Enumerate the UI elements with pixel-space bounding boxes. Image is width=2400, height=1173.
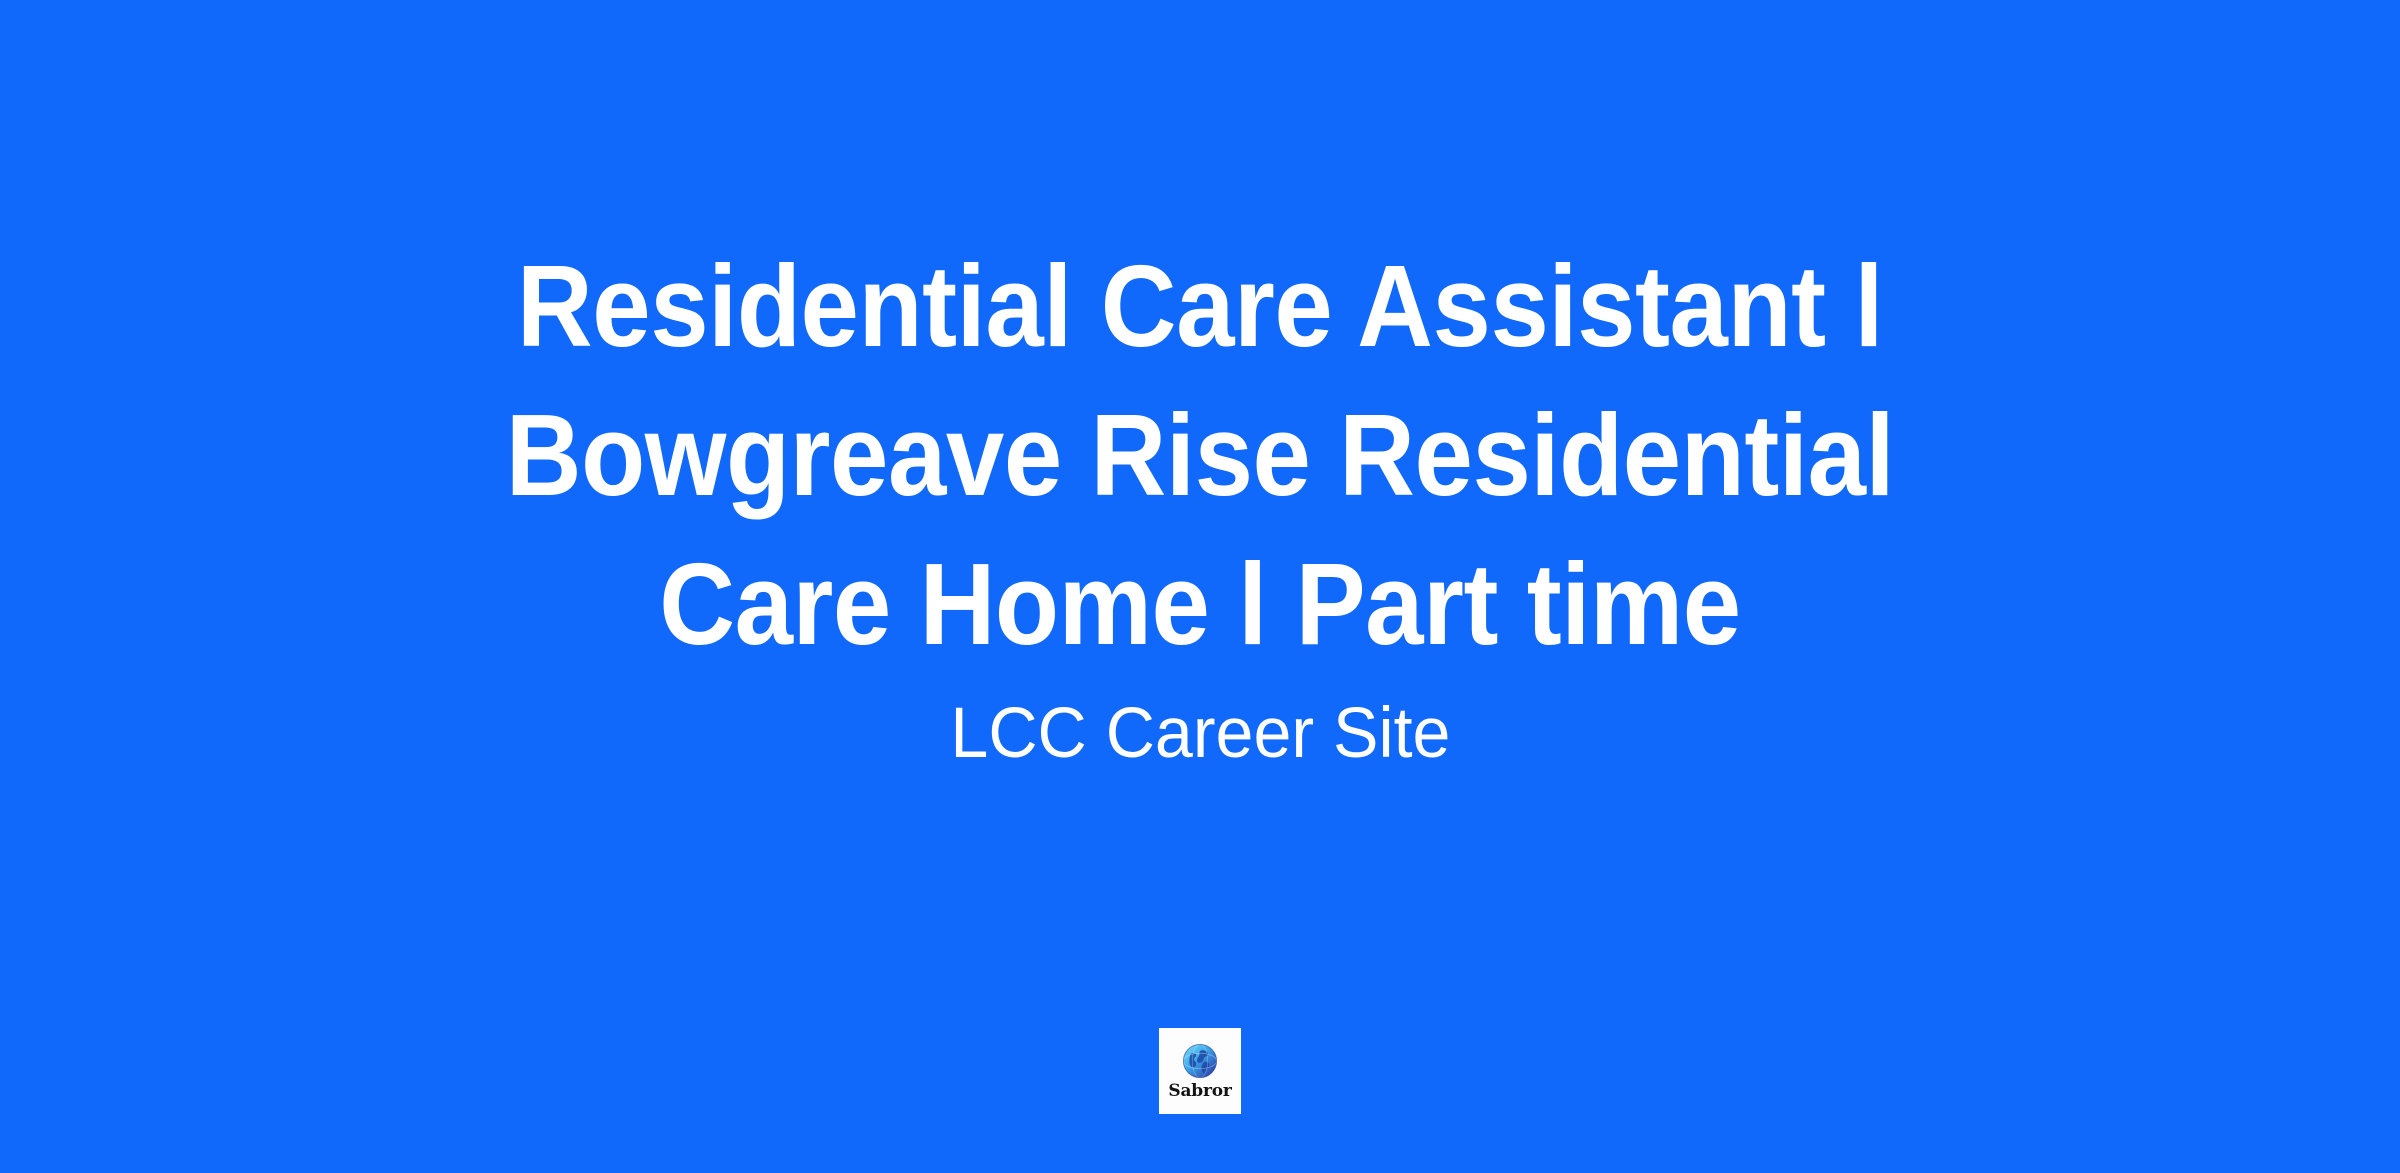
page-subtitle: LCC Career Site [950, 691, 1450, 777]
social-share-card: Residential Care Assistant l Bowgreave R… [0, 0, 2400, 1173]
hero-text-block: Residential Care Assistant l Bowgreave R… [0, 232, 2400, 777]
globe-icon [1181, 1042, 1219, 1080]
page-title: Residential Care Assistant l Bowgreave R… [503, 232, 1897, 679]
brand-badge: Sabror [1159, 1028, 1241, 1114]
brand-name: Sabror [1168, 1081, 1231, 1101]
